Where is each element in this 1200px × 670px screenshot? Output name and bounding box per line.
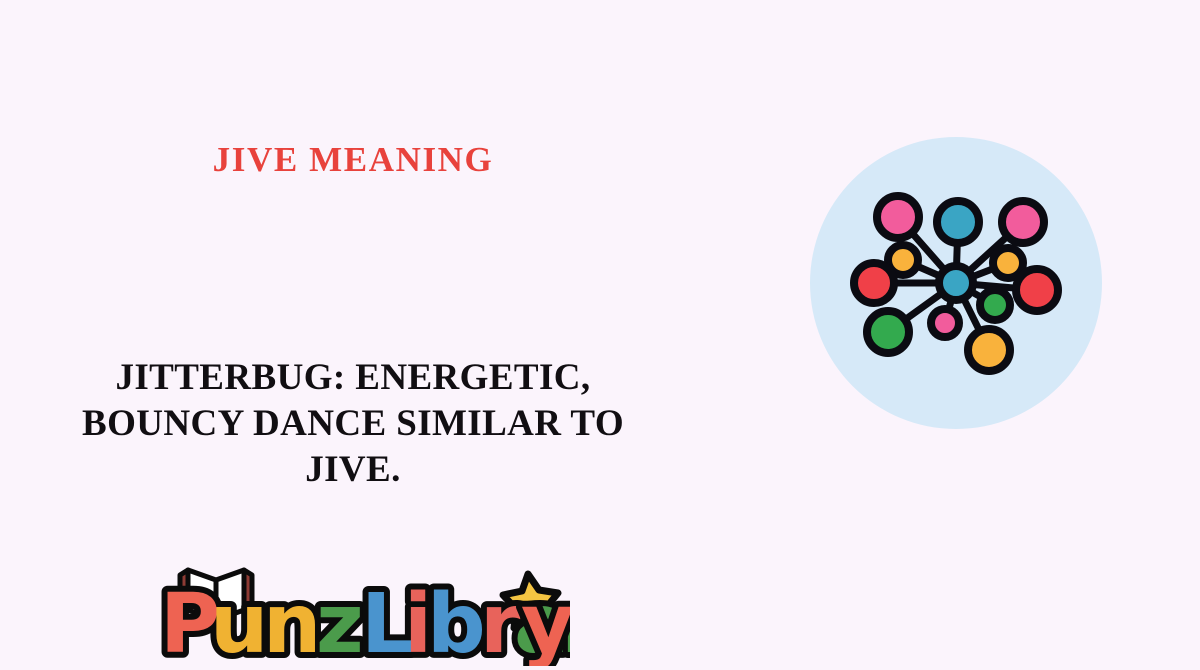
logo-letter-1: u [210, 577, 268, 666]
logo-letter-3: z [316, 577, 364, 666]
logo-letter-2: n [263, 577, 321, 666]
node-lower-right-sm [980, 290, 1010, 320]
network-nodes-icon [808, 135, 1104, 431]
brand-logo[interactable]: PunzLibrarPunzLibrar yy [150, 548, 570, 666]
punzlibrary-logo[interactable]: PunzLibrarPunzLibrar yy [150, 548, 570, 666]
meaning-card: JIVE MEANING JITTERBUG: ENERGETIC, BOUNC… [0, 0, 1200, 670]
page-title: JIVE MEANING [0, 139, 706, 181]
brand-wordmark-tail: yy [521, 577, 570, 666]
node-left [854, 263, 894, 303]
brand-wordmark: PunzLibrarPunzLibrar [160, 577, 570, 666]
node-top-left [877, 196, 919, 238]
logo-letter-6: b [427, 577, 486, 666]
node-bottom-right [968, 329, 1010, 371]
logo-letter-tail: y [521, 577, 570, 666]
node-top-right [1002, 201, 1044, 243]
node-center [939, 266, 973, 300]
node-bottom-left [867, 311, 909, 353]
node-top-center [937, 201, 979, 243]
node-right [1016, 269, 1058, 311]
node-lower-mid-sm [931, 309, 959, 337]
network-nodes-illustration [808, 135, 1104, 431]
definition-text: JITTERBUG: ENERGETIC, BOUNCY DANCE SIMIL… [0, 355, 706, 493]
